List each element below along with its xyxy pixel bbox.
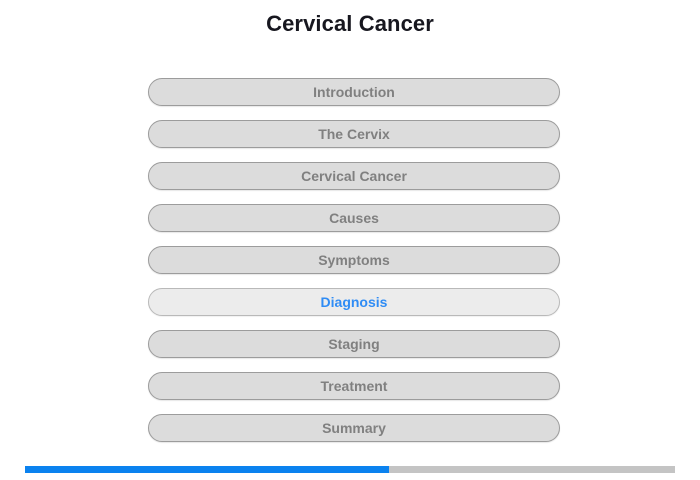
nav-button-cervical-cancer[interactable]: Cervical Cancer [148, 162, 560, 190]
nav-button-diagnosis[interactable]: Diagnosis [148, 288, 560, 316]
progress-bar-fill [25, 466, 389, 473]
page-title: Cervical Cancer [0, 9, 700, 39]
nav-button-causes[interactable]: Causes [148, 204, 560, 232]
nav-button-label: Diagnosis [321, 294, 388, 310]
nav-button-the-cervix[interactable]: The Cervix [148, 120, 560, 148]
nav-button-label: Introduction [313, 84, 395, 100]
nav-button-label: Causes [329, 210, 379, 226]
nav-button-label: Cervical Cancer [301, 168, 407, 184]
nav-button-label: Treatment [321, 378, 388, 394]
nav-button-label: Symptoms [318, 252, 390, 268]
nav-button-staging[interactable]: Staging [148, 330, 560, 358]
nav-button-label: The Cervix [318, 126, 390, 142]
nav-button-introduction[interactable]: Introduction [148, 78, 560, 106]
slide-root: Cervical Cancer IntroductionThe CervixCe… [0, 0, 700, 480]
nav-button-label: Staging [328, 336, 379, 352]
progress-bar-track[interactable] [25, 466, 675, 473]
section-nav-list: IntroductionThe CervixCervical CancerCau… [148, 78, 560, 442]
nav-button-summary[interactable]: Summary [148, 414, 560, 442]
nav-button-label: Summary [322, 420, 386, 436]
nav-button-symptoms[interactable]: Symptoms [148, 246, 560, 274]
nav-button-treatment[interactable]: Treatment [148, 372, 560, 400]
